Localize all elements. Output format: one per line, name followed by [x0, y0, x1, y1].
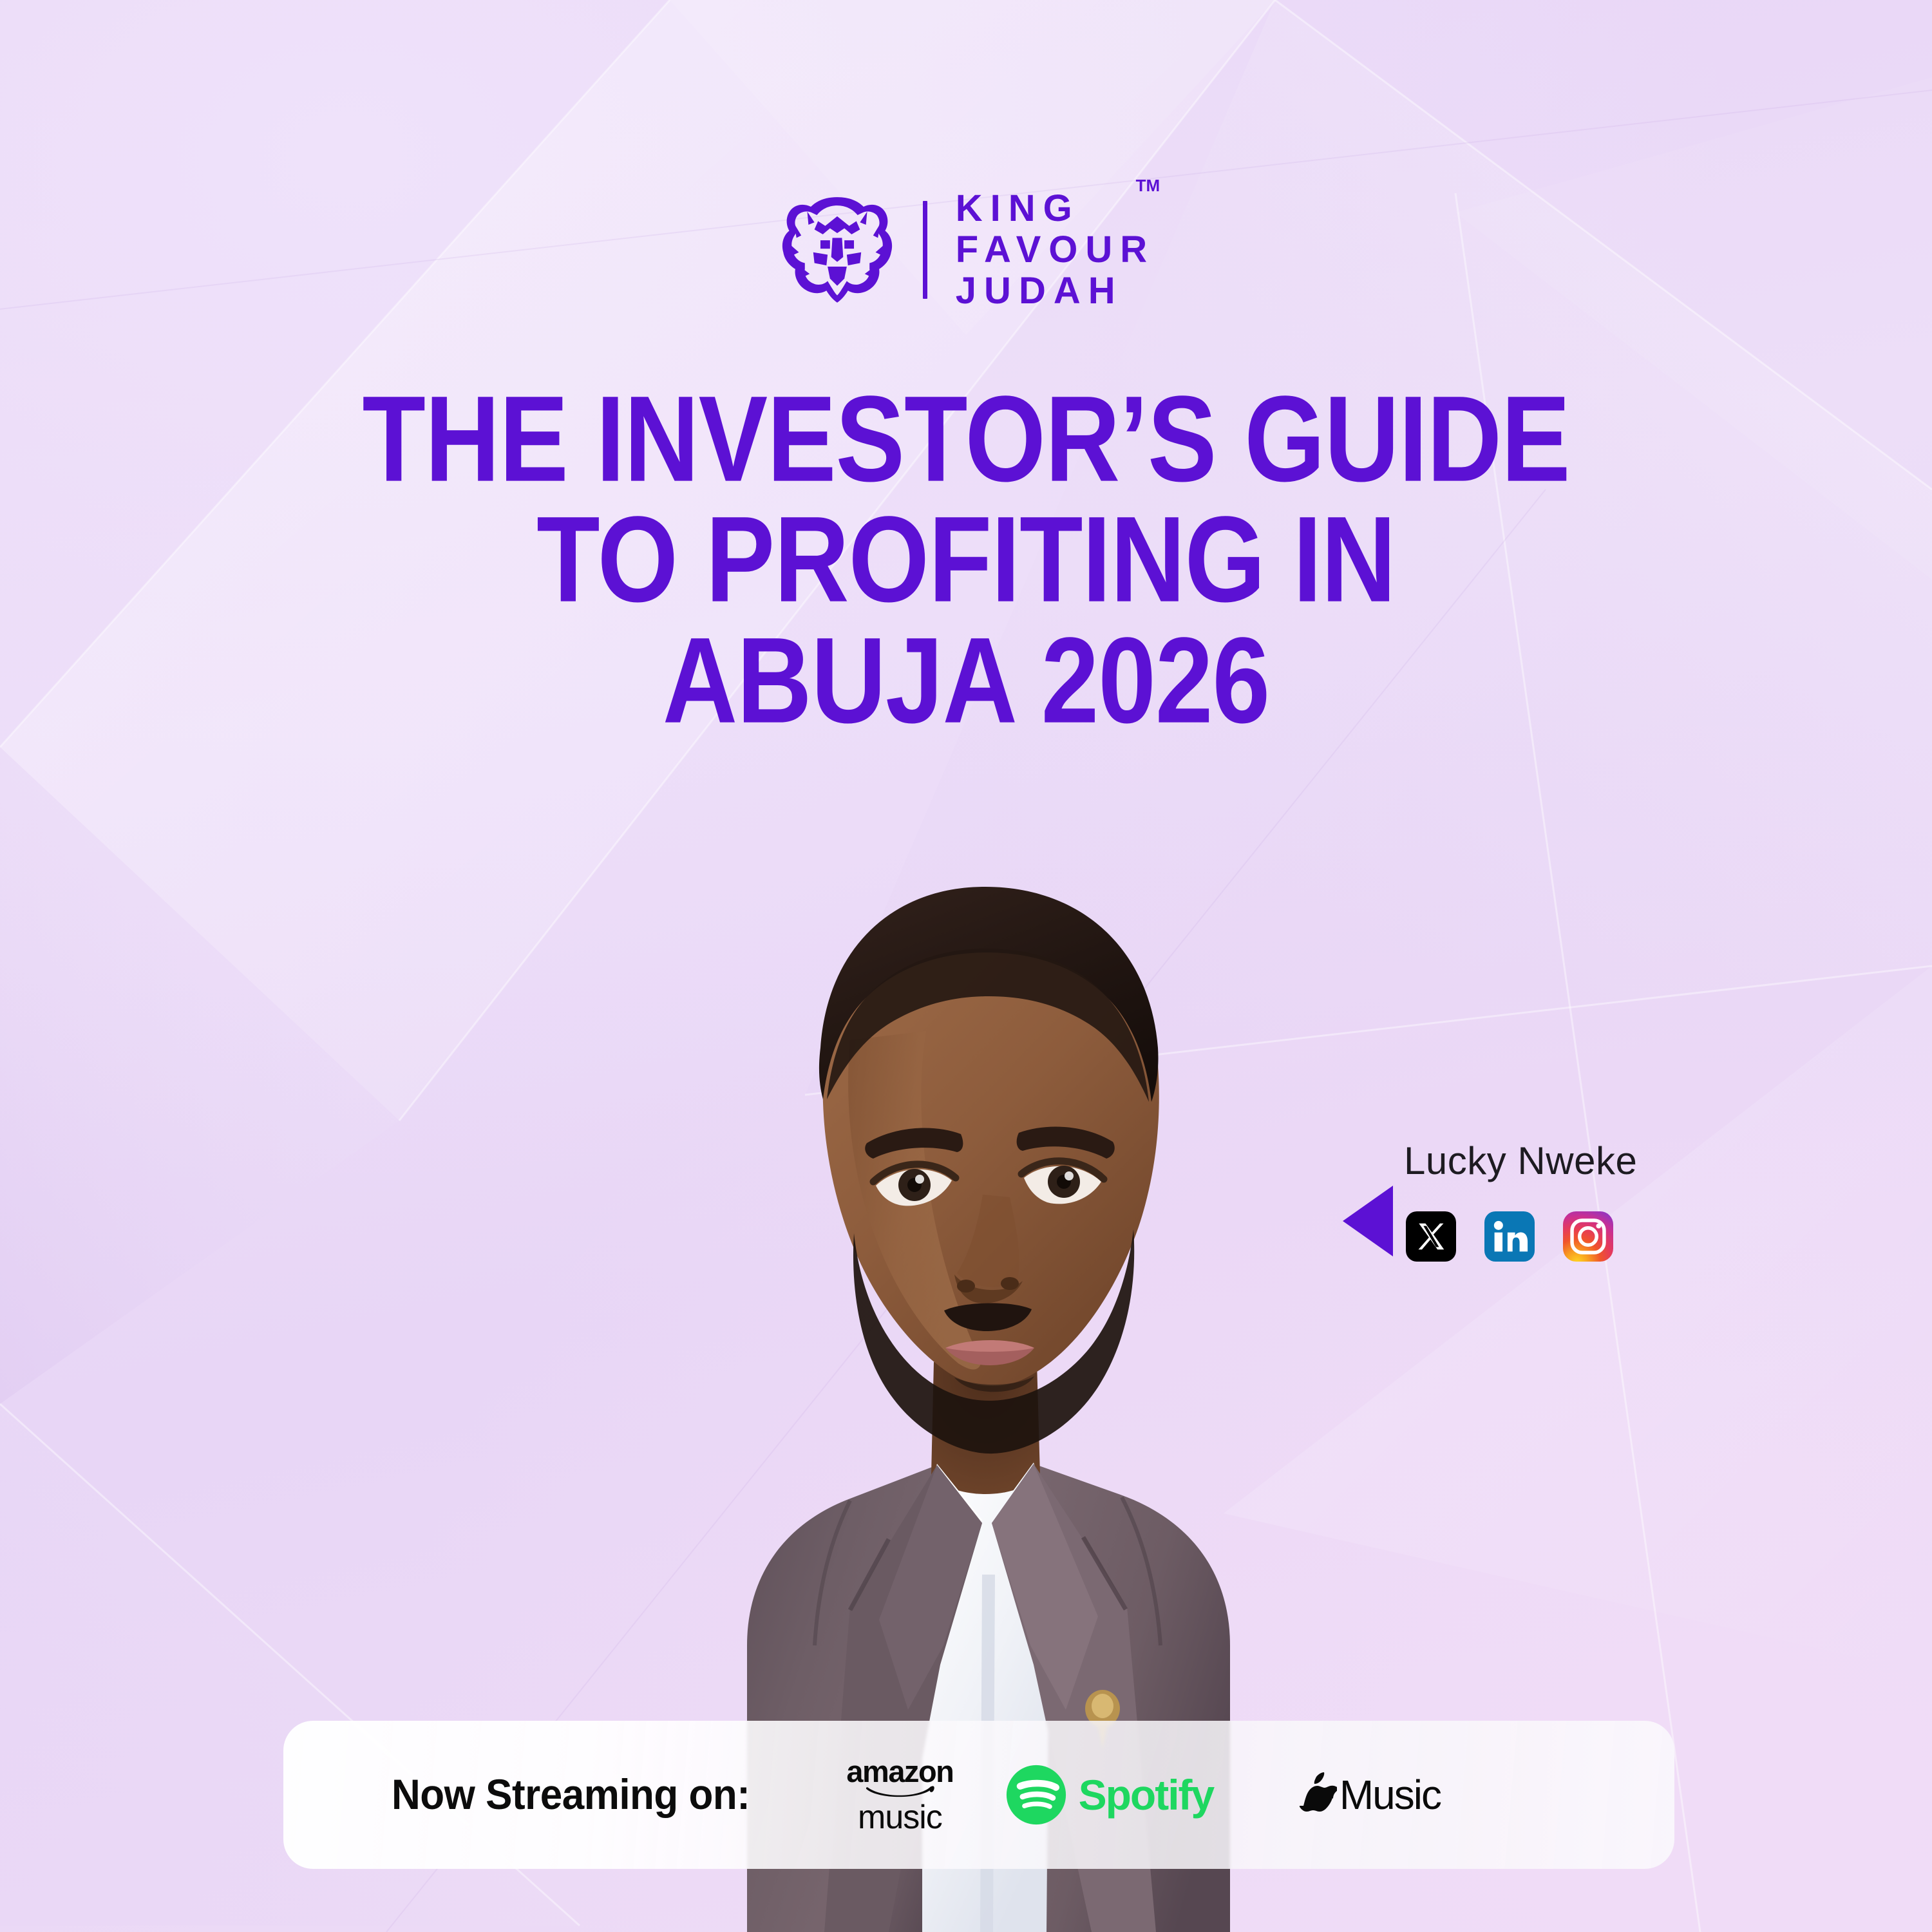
amazon-music-wordmark: music — [858, 1801, 942, 1834]
spotify-logo[interactable]: Spotify — [974, 1764, 1244, 1826]
brand-logo: KING FAVOUR JUDAH TM — [0, 185, 1932, 314]
headline-line-3: ABUJA 2026 — [0, 625, 1932, 737]
guest-name: Lucky Nweke — [1404, 1139, 1637, 1183]
spotify-icon — [1005, 1764, 1067, 1826]
logo-line-king: KING — [956, 190, 1155, 227]
streaming-bar: Now Streaming on: amazon music — [283, 1721, 1674, 1869]
apple-music-wordmark: Music — [1340, 1771, 1441, 1819]
page-title: THE INVESTOR’S GUIDE TO PROFITING IN ABU… — [0, 393, 1932, 728]
logo-line-judah: JUDAH — [956, 272, 1155, 310]
instagram-icon[interactable] — [1563, 1211, 1613, 1262]
guest-info: Lucky Nweke — [1343, 1139, 1742, 1319]
logo-wordmark: KING FAVOUR JUDAH TM — [956, 190, 1155, 310]
platform-logos: amazon music Spotify — [826, 1756, 1495, 1834]
social-links[interactable] — [1406, 1211, 1613, 1262]
amazon-smile-icon — [862, 1784, 938, 1798]
apple-music-logo[interactable]: Music — [1244, 1771, 1495, 1819]
left-triangle-icon — [1343, 1186, 1393, 1256]
logo-line-favour: FAVOUR — [956, 231, 1155, 269]
now-streaming-label: Now Streaming on: — [392, 1770, 750, 1819]
x-twitter-icon[interactable] — [1406, 1211, 1456, 1262]
headline-line-1: THE INVESTOR’S GUIDE — [0, 383, 1932, 495]
spotify-wordmark: Spotify — [1079, 1770, 1214, 1819]
lion-head-icon — [777, 190, 897, 310]
linkedin-icon[interactable] — [1484, 1211, 1535, 1262]
logo-divider — [923, 201, 927, 299]
apple-icon — [1300, 1772, 1337, 1817]
trademark-symbol: TM — [1136, 176, 1160, 196]
amazon-music-logo[interactable]: amazon music — [826, 1756, 974, 1834]
amazon-wordmark: amazon — [846, 1756, 953, 1786]
poster-canvas: KING FAVOUR JUDAH TM THE INVESTOR’S GUID… — [0, 0, 1932, 1932]
headline-line-2: TO PROFITING IN — [0, 504, 1932, 616]
